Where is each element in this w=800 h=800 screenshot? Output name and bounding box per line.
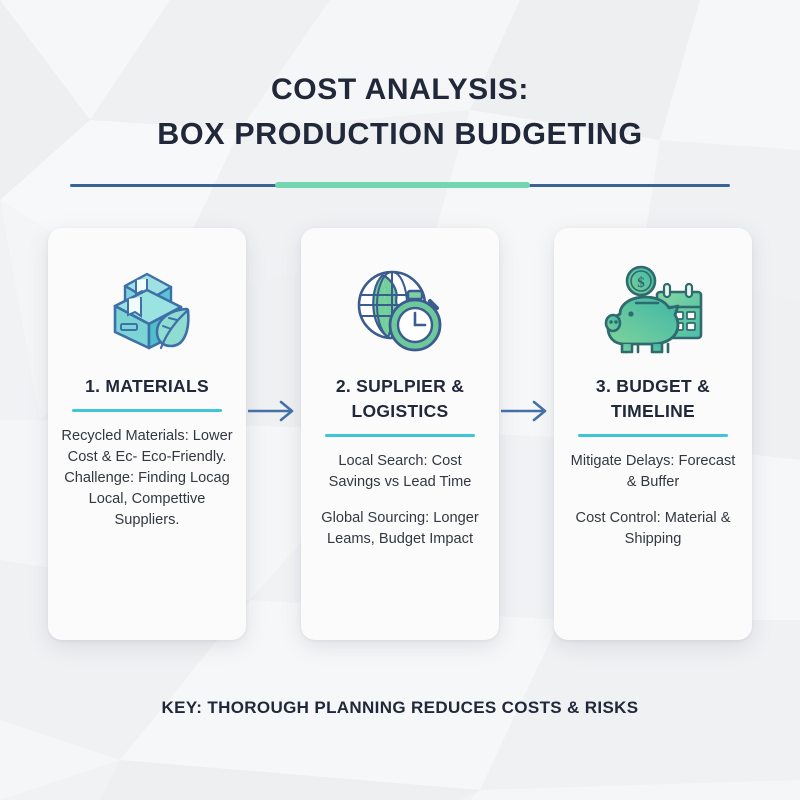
step-card-body: Mitigate Delays: Forecast & Buffer Cost … bbox=[564, 451, 742, 550]
steps-row: 1. MATERIALS Recycled Materials: Lower C… bbox=[0, 228, 800, 640]
page-title-line-2: BOX PRODUCTION BUDGETING bbox=[0, 112, 800, 156]
step-card-title: 1. MATERIALS bbox=[58, 374, 236, 399]
step-card-title: 2. SUPLPIER & LOGISTICS bbox=[311, 374, 489, 424]
step-card-paragraph: Recycled Materials: Lower Cost & Ec- Eco… bbox=[58, 426, 236, 531]
step-card-body: Recycled Materials: Lower Cost & Ec- Eco… bbox=[58, 426, 236, 531]
page-title-line-1: COST ANALYSIS: bbox=[0, 68, 800, 112]
step-card-paragraph: Local Search: Cost Savings vs Lead Time bbox=[311, 451, 489, 493]
arrow-materials-to-supplier bbox=[246, 228, 301, 422]
globe-stopwatch-icon bbox=[311, 256, 489, 360]
arrow-supplier-to-budget bbox=[499, 228, 554, 422]
step-card-rule bbox=[72, 409, 222, 412]
title-divider bbox=[70, 180, 730, 190]
step-card-supplier[interactable]: 2. SUPLPIER & LOGISTICS Local Search: Co… bbox=[301, 228, 499, 640]
step-card-paragraph: Mitigate Delays: Forecast & Buffer bbox=[564, 451, 742, 493]
recycled-boxes-icon bbox=[58, 256, 236, 360]
infographic-root: COST ANALYSIS: BOX PRODUCTION BUDGETING bbox=[0, 0, 800, 800]
step-card-budget[interactable]: $ 3. BUDGET & TIMELINE Mitigate Delays: … bbox=[554, 228, 752, 640]
piggy-bank-calendar-icon: $ bbox=[564, 256, 742, 360]
header: COST ANALYSIS: BOX PRODUCTION BUDGETING bbox=[0, 0, 800, 190]
step-card-body: Local Search: Cost Savings vs Lead Time … bbox=[311, 451, 489, 550]
step-card-rule bbox=[578, 434, 728, 437]
svg-text:$: $ bbox=[637, 275, 645, 291]
step-card-paragraph: Global Sourcing: Longer Leams, Budget Im… bbox=[311, 508, 489, 550]
step-card-paragraph: Cost Control: Material & Shipping bbox=[564, 508, 742, 550]
footer-key-message: KEY: THOROUGH PLANNING REDUCES COSTS & R… bbox=[0, 698, 800, 718]
step-card-title: 3. BUDGET & TIMELINE bbox=[564, 374, 742, 424]
step-card-rule bbox=[325, 434, 475, 437]
divider-accent-segment bbox=[275, 182, 530, 188]
step-card-materials[interactable]: 1. MATERIALS Recycled Materials: Lower C… bbox=[48, 228, 246, 640]
